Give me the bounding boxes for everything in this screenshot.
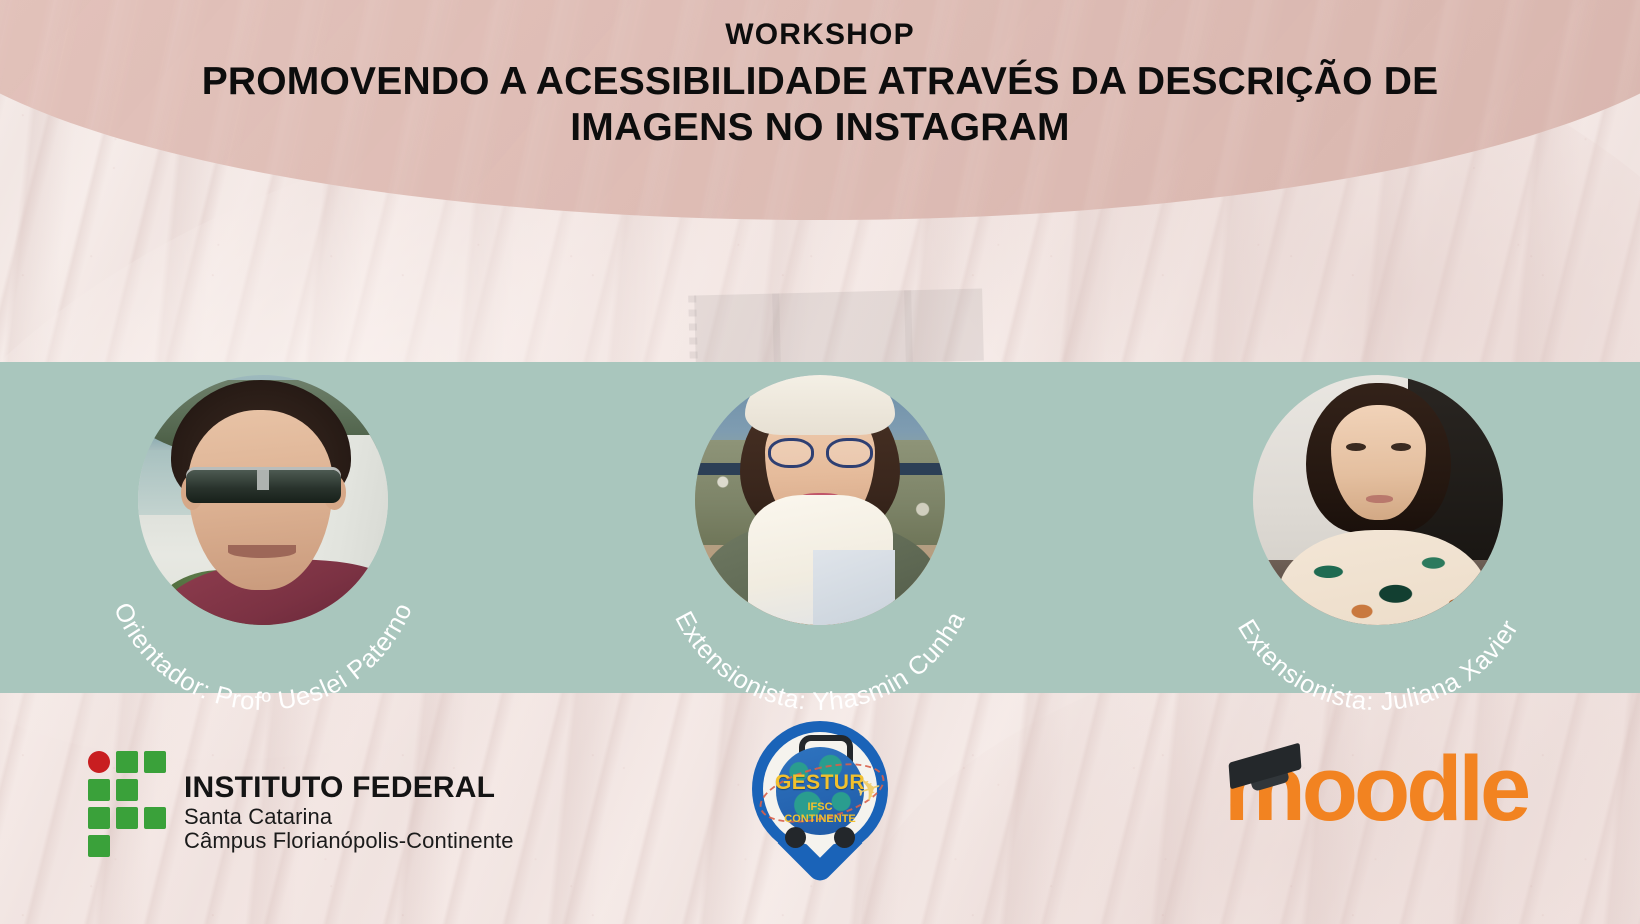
- suitcase-wheel-left: [785, 827, 806, 848]
- ifsc-logo: INSTITUTO FEDERAL Santa Catarina Câmpus …: [88, 749, 514, 857]
- ifsc-wordmark: INSTITUTO FEDERAL Santa Catarina Câmpus …: [184, 749, 514, 854]
- ifsc-title: INSTITUTO FEDERAL: [184, 771, 514, 805]
- portrait-ueslei-paterno: [138, 375, 388, 625]
- avatar: [138, 375, 388, 625]
- person-card-orientador: Orientador: Profº Ueslei Paterno: [48, 361, 478, 701]
- person-card-extensionista-juliana: Extensionista: Juliana Xavier: [1163, 361, 1593, 701]
- workshop-poster: WORKSHOP PROMOVENDO A ACESSIBILIDADE ATR…: [0, 0, 1640, 924]
- sunglasses-icon: [186, 470, 341, 503]
- graduation-cap-icon: [1228, 747, 1306, 777]
- avatar: [1253, 375, 1503, 625]
- portrait-yhasmin-cunha: [695, 375, 945, 625]
- washi-tape-edge: [688, 295, 698, 367]
- ifsc-state: Santa Catarina: [184, 805, 514, 830]
- kicker-label: WORKSHOP: [0, 18, 1640, 51]
- gestur-logo: GESTUR IFSC CONTINENTE ✈: [752, 721, 888, 897]
- ifsc-campus: Câmpus Florianópolis-Continente: [184, 829, 514, 854]
- title-block: WORKSHOP PROMOVENDO A ACESSIBILIDADE ATR…: [0, 18, 1640, 151]
- suitcase-wheel-right: [834, 827, 855, 848]
- moodle-logo: moodle: [1224, 737, 1524, 845]
- portrait-juliana-xavier: [1253, 375, 1503, 625]
- ifsc-mark-icon: [88, 751, 166, 857]
- people-row: Orientador: Profº Ueslei Paterno: [0, 362, 1640, 693]
- eyeglasses-icon: [768, 438, 873, 468]
- logo-strip: INSTITUTO FEDERAL Santa Catarina Câmpus …: [0, 693, 1640, 924]
- person-card-extensionista-yhasmin: Extensionista: Yhasmin Cunha: [605, 361, 1035, 701]
- avatar: [695, 375, 945, 625]
- beanie-icon: [745, 375, 895, 435]
- page-title: PROMOVENDO A ACESSIBILIDADE ATRAVÉS DA D…: [0, 59, 1640, 151]
- gestur-sub-line2: CONTINENTE: [752, 813, 888, 825]
- washi-tape-strip: [694, 288, 984, 367]
